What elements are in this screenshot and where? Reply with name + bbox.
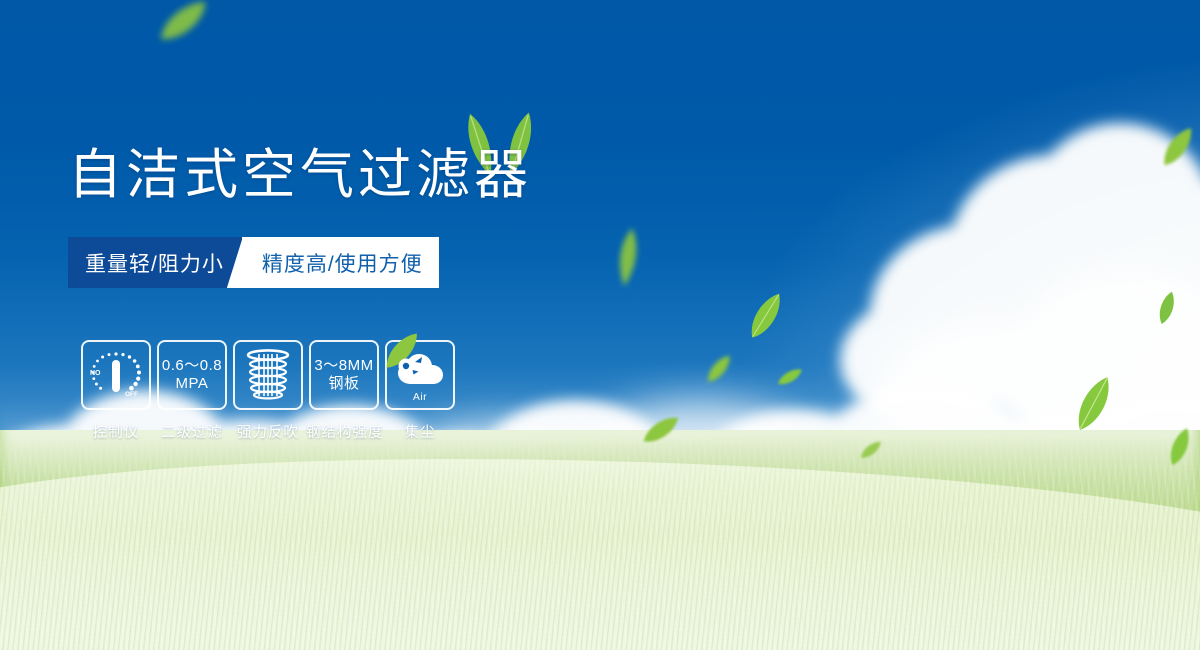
gauge-icon: NO OFF xyxy=(87,348,145,402)
feature-label: 集尘 xyxy=(382,421,458,442)
subtitle-right: 精度高/使用方便 xyxy=(242,237,439,288)
air-label: Air xyxy=(387,391,453,403)
feature-label: 二级过滤 xyxy=(154,421,230,442)
feature-value: 0.6～0.8 MPA xyxy=(162,357,222,393)
feature-item-blowback[interactable]: 强力反吹 xyxy=(230,340,306,442)
feature-icon-box xyxy=(233,340,303,410)
feature-icon-box: Air xyxy=(385,340,455,410)
feature-value: 3～8MM 钢板 xyxy=(314,357,373,393)
feature-icon-box: 0.6～0.8 MPA xyxy=(157,340,227,410)
feature-value-line2: MPA xyxy=(162,375,222,393)
banner-content: 自洁式空气过滤器 重量轻/阻力小 精度高/使用方便 xyxy=(0,0,1200,650)
cloud-air-icon xyxy=(393,350,447,390)
feature-label: 钢结构强度 xyxy=(306,421,382,442)
svg-text:NO: NO xyxy=(90,370,101,377)
feature-item-control-gauge[interactable]: NO OFF 控制仪 xyxy=(78,340,154,442)
feature-label: 控制仪 xyxy=(78,421,154,442)
svg-text:OFF: OFF xyxy=(125,391,138,398)
feature-value-line1: 3～8MM xyxy=(314,357,373,374)
subtitle-left: 重量轻/阻力小 xyxy=(68,237,242,288)
feature-icon-box: 3～8MM 钢板 xyxy=(309,340,379,410)
feature-list: NO OFF 控制仪 0.6～0.8 MPA 二级过滤 xyxy=(78,340,458,442)
feature-item-dust-collection[interactable]: Air 集尘 xyxy=(382,340,458,442)
feature-label: 强力反吹 xyxy=(230,421,306,442)
page-title: 自洁式空气过滤器 xyxy=(68,148,532,202)
feature-icon-box: NO OFF xyxy=(81,340,151,410)
feature-item-two-stage-filter[interactable]: 0.6～0.8 MPA 二级过滤 xyxy=(154,340,230,442)
feature-value-line2: 钢板 xyxy=(314,375,373,393)
subtitle-bar: 重量轻/阻力小 精度高/使用方便 xyxy=(68,237,462,288)
hero-banner: 自洁式空气过滤器 重量轻/阻力小 精度高/使用方便 xyxy=(0,0,1200,650)
feature-value-line1: 0.6～0.8 xyxy=(162,357,222,374)
filter-coil-icon xyxy=(244,348,292,402)
feature-item-steel-strength[interactable]: 3～8MM 钢板 钢结构强度 xyxy=(306,340,382,442)
